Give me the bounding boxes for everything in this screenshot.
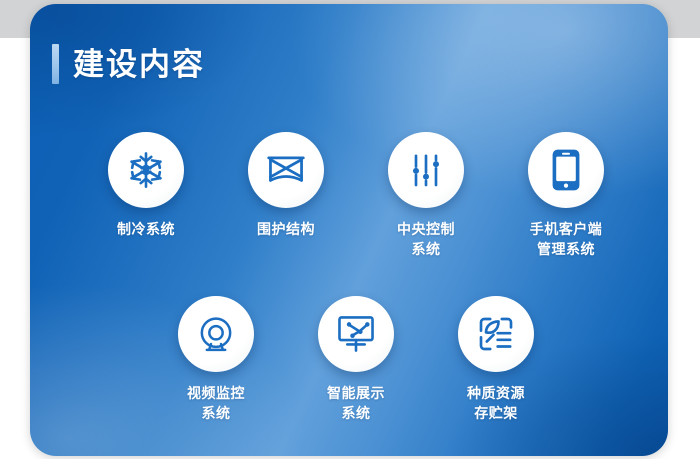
envelope-structure-icon (265, 151, 307, 189)
snowflake-icon (125, 149, 167, 191)
webcam-icon (196, 314, 236, 354)
icon-bubble[interactable] (178, 296, 254, 372)
title-accent-bar (52, 44, 59, 84)
title-text: 建设内容 (73, 49, 205, 80)
icon-bubble[interactable] (458, 296, 534, 372)
item-envelope-structure[interactable]: 围护结构 (242, 132, 330, 260)
item-mobile-client-management-system[interactable]: 手机客户端 管理系统 (522, 132, 610, 260)
item-label: 制冷系统 (117, 219, 175, 239)
item-label: 智能展示 系统 (327, 383, 385, 424)
item-smart-display-system[interactable]: 智能展示 系统 (312, 296, 400, 424)
construction-content-panel: 建设内容 (30, 4, 668, 456)
icon-row-2: 视频监控 系统 (172, 296, 540, 424)
item-central-control-system[interactable]: 中央控制 系统 (382, 132, 470, 260)
smart-display-icon (335, 314, 377, 354)
icon-bubble[interactable] (108, 132, 184, 208)
item-label: 种质资源 存贮架 (467, 383, 525, 424)
icon-row-1: 制冷系统 围护结构 (102, 132, 610, 260)
slide-canvas: 建设内容 (0, 0, 700, 459)
sliders-icon (406, 150, 446, 190)
mobile-phone-icon (551, 148, 581, 192)
item-refrigeration-system[interactable]: 制冷系统 (102, 132, 190, 260)
icon-bubble[interactable] (388, 132, 464, 208)
item-video-surveillance-system[interactable]: 视频监控 系统 (172, 296, 260, 424)
germplasm-rack-icon (476, 314, 516, 354)
item-label: 中央控制 系统 (397, 219, 455, 260)
item-germplasm-storage-rack[interactable]: 种质资源 存贮架 (452, 296, 540, 424)
item-label: 围护结构 (257, 219, 315, 239)
item-label: 手机客户端 管理系统 (530, 219, 603, 260)
icon-bubble[interactable] (528, 132, 604, 208)
icon-bubble[interactable] (248, 132, 324, 208)
icon-bubble[interactable] (318, 296, 394, 372)
item-label: 视频监控 系统 (187, 383, 245, 424)
page-title: 建设内容 (52, 44, 205, 84)
